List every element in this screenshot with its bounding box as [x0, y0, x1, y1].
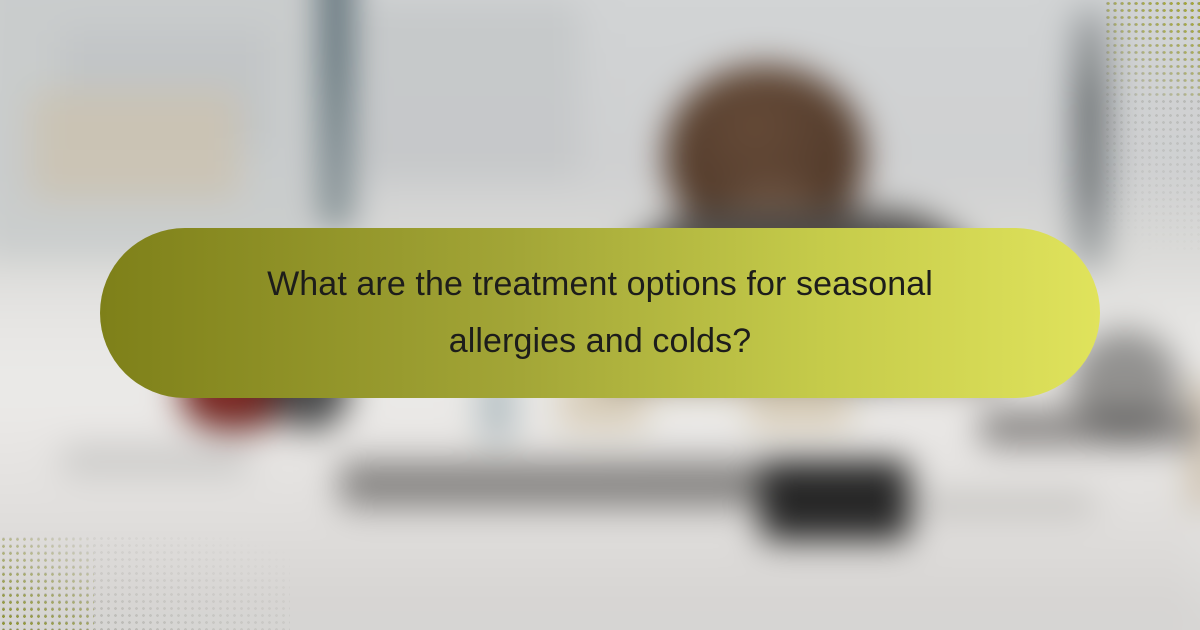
- background-keyboard: [340, 460, 770, 506]
- question-pill: What are the treatment options for seaso…: [100, 228, 1100, 398]
- background-warm-boxes-left: [30, 90, 240, 200]
- background-post-left: [320, 0, 352, 230]
- background-post-right: [1075, 10, 1105, 270]
- background-paper: [60, 445, 250, 475]
- background-phone: [760, 460, 910, 540]
- question-banner: What are the treatment options for seaso…: [0, 0, 1200, 630]
- background-pen: [915, 495, 1095, 513]
- question-text: What are the treatment options for seaso…: [267, 256, 933, 370]
- background-shelf-b: [360, 0, 580, 180]
